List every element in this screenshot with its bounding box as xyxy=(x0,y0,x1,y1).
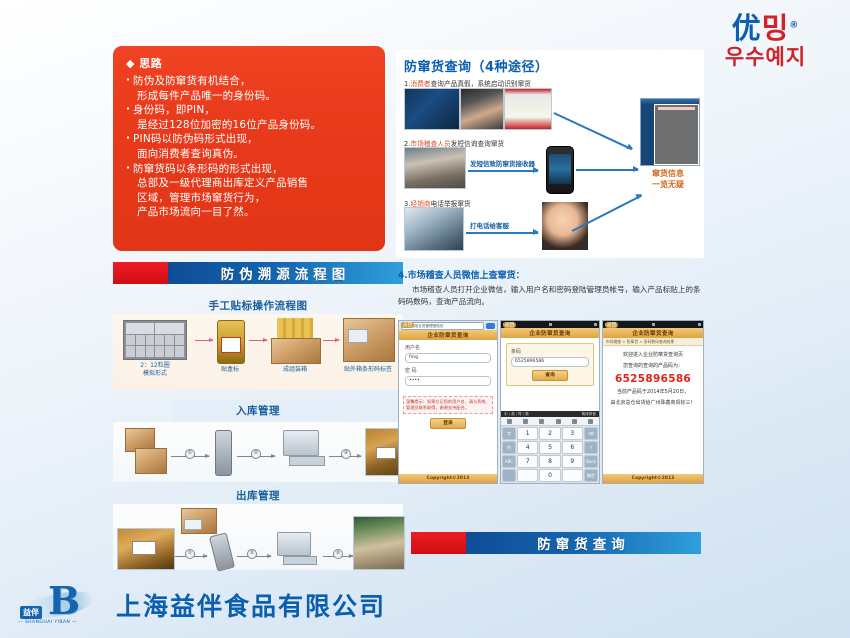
idea-panel: ◆ 思路 防伪及防窜货有机结合， 形成每件产品唯一的身份码。 身份码，即PIN，… xyxy=(113,46,385,251)
result-line-4: 由北京总仓出货给广州珠鑫商贸标三！ xyxy=(607,400,699,408)
key-3[interactable]: 3 xyxy=(562,427,583,440)
section-title-text: 防窜货查询 xyxy=(537,533,630,553)
app-title-bar: 返回 企业防窜货查询 xyxy=(603,328,703,338)
handheld-scanner-icon xyxy=(215,430,232,476)
photo-dealers xyxy=(404,207,464,251)
arrow-to-result-2 xyxy=(576,169,638,171)
inbound-step-2: ② xyxy=(251,449,261,459)
barcode-input[interactable]: 6525896586 xyxy=(511,357,589,367)
section-header-banner: 防窜货查询 xyxy=(411,532,701,554)
flow-arrow-2 xyxy=(249,340,267,341)
copyright-footer: Copyright©2013 xyxy=(399,474,497,483)
key-9[interactable]: 9 xyxy=(562,455,583,468)
retail-shelf-photo xyxy=(353,516,405,570)
computer-icon-outbound xyxy=(275,532,317,570)
company-name: 上海益伴食品有限公司 xyxy=(116,587,386,623)
key-blank-right[interactable] xyxy=(562,469,583,482)
list-item: 防窜货码以条形码的形式出现， 总部及一级代理商出库定义产品销售 区域，管理市场窜… xyxy=(126,162,374,220)
idea-line: 防伪及防窜货有机结合， xyxy=(133,74,374,89)
idea-line: 是经过128位加密的16位产品身份码。 xyxy=(133,118,374,133)
photo-consumer-counter xyxy=(404,88,460,130)
inbound-step-1: ① xyxy=(185,449,195,459)
key-blank-left[interactable] xyxy=(502,469,516,482)
key-shift[interactable]: ↑ xyxy=(584,441,598,454)
flow-arrow-3 xyxy=(323,340,339,341)
logo-pinyin: — SHANGHAI YIBAN — xyxy=(18,620,77,625)
label-grid-icon xyxy=(123,320,187,360)
idea-line: 总部及一级代理商出库定义产品销售 xyxy=(133,176,374,191)
result-caption-line2: 一览无疑 xyxy=(639,179,697,190)
section-title-text: 防伪溯源流程图 xyxy=(221,263,351,283)
idea-title: ◆ 思路 xyxy=(126,55,374,71)
username-input[interactable]: fmg xyxy=(405,353,491,363)
arrow-label-call: 打电话给客服 xyxy=(470,220,509,230)
flow-arrow-1 xyxy=(195,340,213,341)
section-title-blue: 防窜货查询 xyxy=(466,532,701,554)
app-title: 企业防窜货查询 xyxy=(632,329,673,337)
back-button[interactable]: 返回 xyxy=(401,322,414,328)
outbound-step-2: ② xyxy=(247,549,257,559)
key-2[interactable]: 2 xyxy=(539,427,560,440)
app-title: 企业防窜货查询 xyxy=(529,329,570,337)
manual-caption-1: 2：12粒圈 模拟形式 xyxy=(119,362,191,378)
key-enter[interactable]: 确定 xyxy=(584,469,598,482)
manual-caption-4: 贴外箱条形码标签 xyxy=(337,366,399,374)
result-caption: 窜货信息 一览无疑 xyxy=(639,168,697,190)
method-1-label: 1.消费者查询产品真假，系统启动识别窜货 xyxy=(404,78,531,88)
key-7[interactable]: 7 xyxy=(517,455,538,468)
username-label: 用户名 xyxy=(405,344,491,351)
key-1[interactable]: 1 xyxy=(517,427,538,440)
browser-go-button[interactable] xyxy=(486,323,495,329)
manual-caption-2: 贴盒标 xyxy=(209,366,251,374)
trace-flow-panel: 手工贴标操作流程图 2：12粒圈 模拟形式 贴盒标 成组装箱 贴外箱条形码标签 … xyxy=(113,288,403,573)
key-abc[interactable]: ABC xyxy=(502,455,516,468)
key-0[interactable]: 0 xyxy=(539,469,560,482)
key-dot[interactable] xyxy=(517,469,538,482)
brand-cn: 优밍® xyxy=(693,14,838,43)
list-item: 防伪及防窜货有机结合， 形成每件产品唯一的身份码。 xyxy=(126,74,374,103)
photo-scan-hand xyxy=(460,88,504,130)
result-screen-image xyxy=(640,98,700,166)
footer: B 益伴 — SHANGHAI YIBAN — 上海益伴食品有限公司 xyxy=(18,578,448,632)
outbound-step-1: ① xyxy=(185,549,195,559)
logo-badge: 益伴 xyxy=(20,606,42,619)
list-item: 身份码，即PIN， 是经过128位加密的16位产品身份码。 xyxy=(126,103,374,132)
list-item: PIN码以防伪码形式出现， 面向消费者查询真伪。 xyxy=(126,132,374,161)
key-5[interactable]: 5 xyxy=(539,441,560,454)
query-methods-panel: 防窜货查询（4种途径） 1.消费者查询产品真假，系统启动识别窜货 2.市场稽查人… xyxy=(396,50,704,258)
arrow-label-sms: 发短信致防窜货接收器 xyxy=(470,158,535,168)
carton-open-icon xyxy=(271,318,319,362)
warehouse-photo-outbound xyxy=(117,528,175,570)
login-form: 用户名 fmg 密 码 •••• xyxy=(399,340,497,394)
result-line-1: 欢迎进入企业防窜货查询页 xyxy=(607,352,699,360)
brand-logo: 优밍® 우수예지 xyxy=(693,14,838,76)
numeric-keyboard[interactable]: 中 / 英 / 符 / 数 简体拼音 字 1 2 3 ⌫ 符 4 5 6 ↑ A… xyxy=(501,411,599,483)
keypad-grid[interactable]: 字 1 2 3 ⌫ 符 4 5 6 ↑ ABC 7 8 9 Back xyxy=(501,426,599,483)
idea-line: 区域，管理市场窜货行为， xyxy=(133,191,374,206)
brand-kr: 우수예지 xyxy=(693,45,838,69)
breadcrumb: 市场稽查 > 防窜货 > 条码数码查询结果 xyxy=(603,338,703,346)
phone-device-image xyxy=(546,146,574,194)
wechat-heading: 4.市场稽查人员微信上查窜货： xyxy=(398,268,704,281)
arrow-call xyxy=(466,232,538,234)
phone-screen-input[interactable]: 返回 企业防窜货查询 条码 6525896586 查询 中 / 英 / 符 / … xyxy=(500,320,600,484)
login-note: 温馨提示：如果忘记您的用户名、请与系统、管理员联系取得，谢谢支持配合。 xyxy=(403,396,493,414)
idea-line: 面向消费者查询真伪。 xyxy=(133,147,374,162)
inbound-title: 入库管理 xyxy=(173,400,343,421)
result-product-code: 6525896586 xyxy=(607,373,699,385)
outbound-carton-icon xyxy=(181,508,217,534)
idea-line: 产品市场流向一目了然。 xyxy=(133,205,374,220)
key-8[interactable]: 8 xyxy=(539,455,560,468)
outbound-step-3: ③ xyxy=(333,549,343,559)
keyboard-mode-label: 中 / 英 / 符 / 数 xyxy=(504,412,529,417)
phone-screen-result[interactable]: 返回 企业防窜货查询 市场稽查 > 防窜货 > 条码数码查询结果 欢迎进入企业防… xyxy=(602,320,704,484)
computer-icon-inbound xyxy=(281,430,323,470)
section-accent-red xyxy=(113,262,168,284)
photo-query-website xyxy=(504,88,552,130)
product-can-icon xyxy=(217,320,245,364)
result-line-2: 您查询的查询的产品码为： xyxy=(607,363,699,371)
section-title-blue: 防伪溯源流程图 xyxy=(168,262,403,284)
arrow-sms xyxy=(468,170,538,172)
phone-screen-login[interactable]: 企业微信业务管理登陆页 返回 企业防窜货查询 用户名 fmg 密 码 •••• … xyxy=(398,320,498,484)
keyboard-toolbar[interactable] xyxy=(501,417,599,426)
login-button[interactable]: 登录 xyxy=(430,418,466,429)
company-logo: B 益伴 — SHANGHAI YIBAN — xyxy=(18,580,104,630)
result-caption-line1: 窜货信息 xyxy=(639,168,697,179)
idea-line: 身份码，即PIN， xyxy=(133,103,374,118)
outbound-title: 出库管理 xyxy=(173,488,343,503)
wechat-description: 市场稽查人员打开企业微信，输入用户名和密码登陆管理员帐号，输入产品标贴上的条码码… xyxy=(398,284,702,307)
wechat-query-panel: 4.市场稽查人员微信上查窜货： 市场稽查人员打开企业微信，输入用户名和密码登陆管… xyxy=(396,268,704,496)
app-title: 企业防窜货查询 xyxy=(427,331,468,339)
inbound-step-3: ③ xyxy=(341,449,351,459)
photo-inspectors xyxy=(404,147,466,189)
section-accent-red xyxy=(411,532,466,554)
result-line-3: 当前产品码于2014年5月20日， xyxy=(607,389,699,397)
key-symbol[interactable]: 字 xyxy=(502,427,516,440)
barcode-label: 条码 xyxy=(511,348,589,355)
idea-bullet-list: 防伪及防窜货有机结合， 形成每件产品唯一的身份码。 身份码，即PIN， 是经过1… xyxy=(126,74,374,220)
app-title-bar: 返回 企业防窜货查询 xyxy=(399,330,497,340)
keyboard-ime-label[interactable]: 简体拼音 xyxy=(582,412,596,417)
idea-line: 防窜货码以条形码的形式出现， xyxy=(133,162,374,177)
back-button[interactable]: 返回 xyxy=(605,322,618,328)
copyright-footer: Copyright©2013 xyxy=(603,474,703,483)
back-button[interactable]: 返回 xyxy=(503,322,516,328)
app-title-bar: 返回 企业防窜货查询 xyxy=(501,328,599,338)
manual-caption-3: 成组装箱 xyxy=(269,366,321,374)
key-char[interactable]: 符 xyxy=(502,441,516,454)
key-backspace[interactable]: ⌫ xyxy=(584,427,598,440)
manual-flow-title: 手工贴标操作流程图 xyxy=(113,298,403,313)
query-result: 欢迎进入企业防窜货查询页 您查询的查询的产品码为： 6525896586 当前产… xyxy=(603,346,703,416)
barcode-query-form: 条码 6525896586 查询 xyxy=(506,343,594,386)
key-back[interactable]: Back xyxy=(584,455,598,468)
section-header-trace: 防伪溯源流程图 xyxy=(113,262,403,284)
logo-letter: B xyxy=(48,582,80,620)
panel-title: 防窜货查询（4种途径） xyxy=(404,56,704,75)
inbound-carton-icon-b xyxy=(135,448,167,474)
idea-line: PIN码以防伪码形式出现， xyxy=(133,132,374,147)
key-6[interactable]: 6 xyxy=(562,441,583,454)
query-button[interactable]: 查询 xyxy=(532,370,568,381)
idea-line: 形成每件产品唯一的身份码。 xyxy=(133,89,374,104)
key-4[interactable]: 4 xyxy=(517,441,538,454)
arrow-to-result-1 xyxy=(554,112,633,150)
carton-closed-icon xyxy=(343,318,395,362)
slide-canvas: 优밍® 우수예지 ◆ 思路 防伪及防窜货有机结合， 形成每件产品唯一的身份码。 … xyxy=(0,0,850,638)
password-label: 密 码 xyxy=(405,367,491,374)
password-input[interactable]: •••• xyxy=(405,376,491,386)
